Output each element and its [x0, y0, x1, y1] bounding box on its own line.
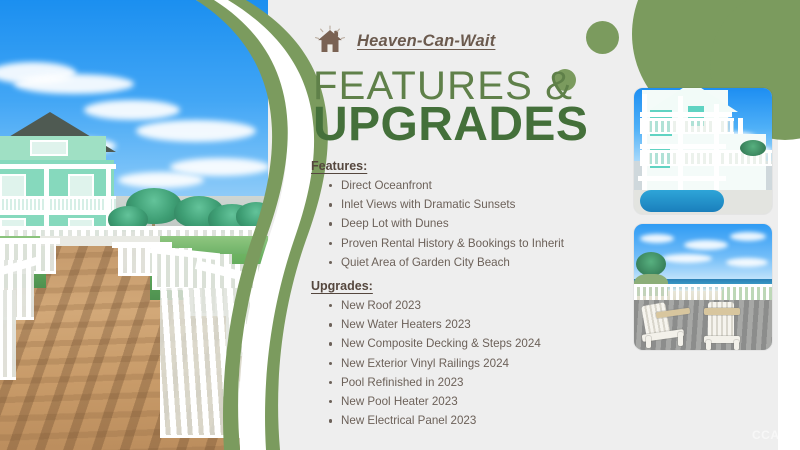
list-item: New Roof 2023	[341, 296, 541, 315]
brand-name: Heaven-Can-Wait	[357, 32, 495, 51]
list-item: Quiet Area of Garden City Beach	[341, 253, 564, 272]
photo-boardwalk	[0, 236, 268, 450]
list-item: New Composite Decking & Steps 2024	[341, 334, 541, 353]
page-title-line-2: UPGRADES	[313, 101, 588, 149]
photo-thumbnail-exterior-pool	[634, 88, 772, 214]
brand-row: Heaven-Can-Wait	[313, 24, 495, 58]
list-item: New Exterior Vinyl Railings 2024	[341, 354, 541, 373]
upgrades-list: New Roof 2023 New Water Heaters 2023 New…	[325, 296, 541, 430]
photo-thumbnail-oceanfront-deck	[634, 224, 772, 350]
decorative-green-dot-large	[586, 21, 619, 54]
list-item: New Pool Heater 2023	[341, 392, 541, 411]
list-item: Inlet Views with Dramatic Sunsets	[341, 195, 564, 214]
list-item: Proven Rental History & Bookings to Inhe…	[341, 234, 564, 253]
photo-beach-house	[0, 112, 116, 242]
list-item: Direct Oceanfront	[341, 176, 564, 195]
list-item: Deep Lot with Dunes	[341, 214, 564, 233]
upgrades-heading: Upgrades:	[311, 279, 373, 293]
list-item: New Electrical Panel 2023	[341, 411, 541, 430]
list-item: Pool Refinished in 2023	[341, 373, 541, 392]
features-list: Direct Oceanfront Inlet Views with Drama…	[325, 176, 564, 272]
slide-canvas: Heaven-Can-Wait FEATURES & UPGRADES Feat…	[0, 0, 800, 450]
house-icon	[313, 24, 347, 58]
watermark: CCAR	[752, 428, 789, 442]
list-item: New Water Heaters 2023	[341, 315, 541, 334]
main-property-photo	[0, 0, 268, 450]
features-heading: Features:	[311, 159, 367, 173]
